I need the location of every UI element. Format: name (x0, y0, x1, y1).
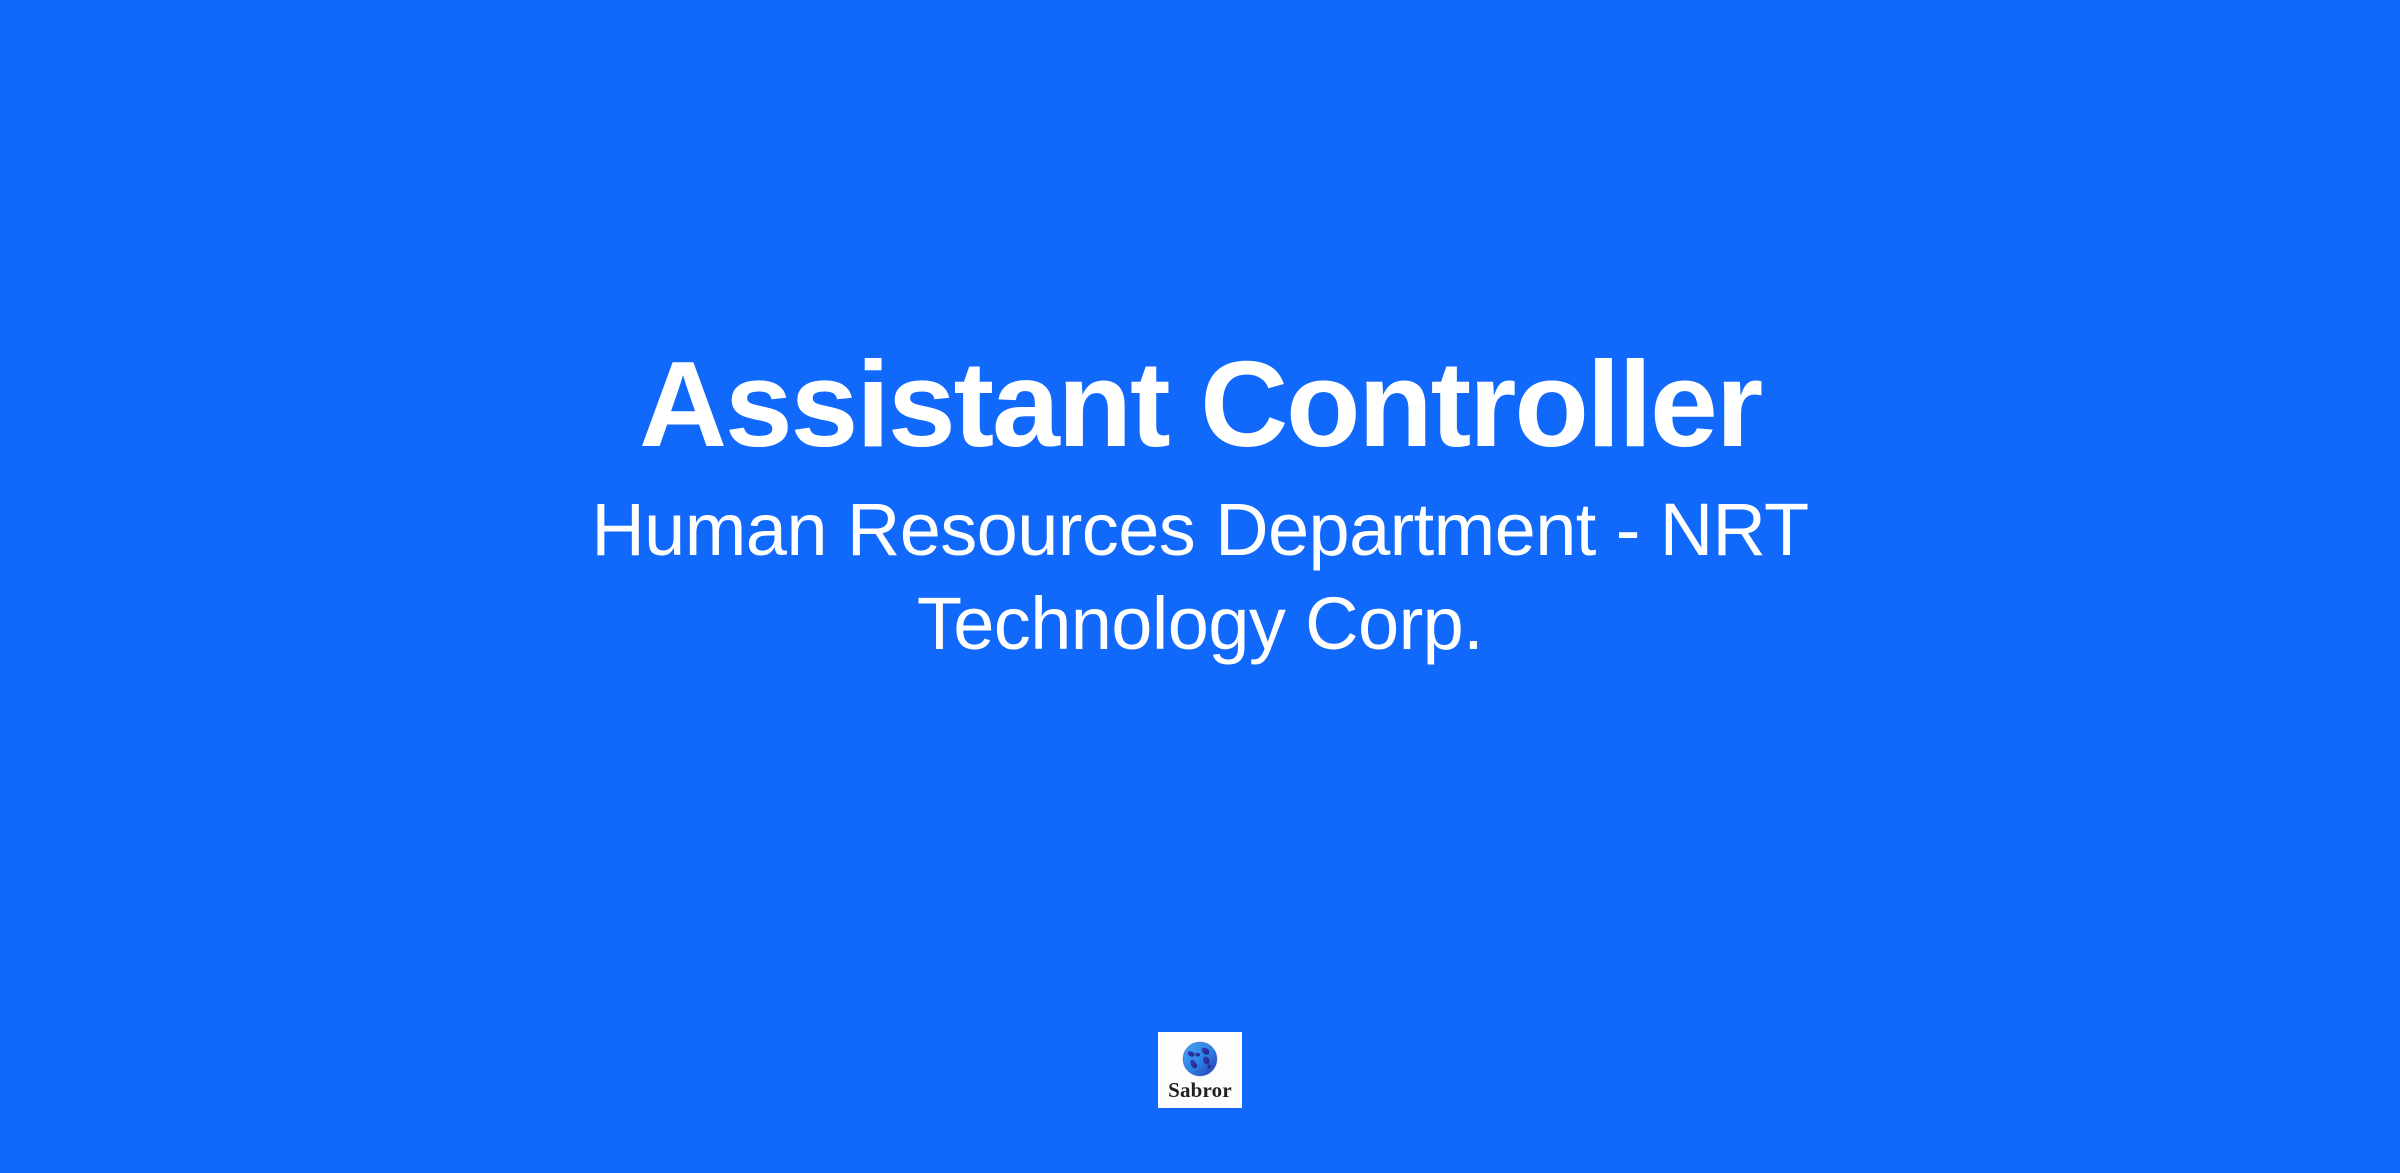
logo-wordmark: Sabror (1168, 1080, 1232, 1101)
job-posting-hero: Assistant Controller Human Resources Dep… (0, 0, 2400, 1173)
globe-icon (1180, 1039, 1220, 1079)
job-subtitle: Human Resources Department - NRT Technol… (530, 483, 1870, 669)
hero-copy-block: Assistant Controller Human Resources Dep… (400, 340, 2000, 670)
page-title: Assistant Controller (639, 340, 1761, 469)
company-logo-badge[interactable]: Sabror (1158, 1032, 1242, 1108)
